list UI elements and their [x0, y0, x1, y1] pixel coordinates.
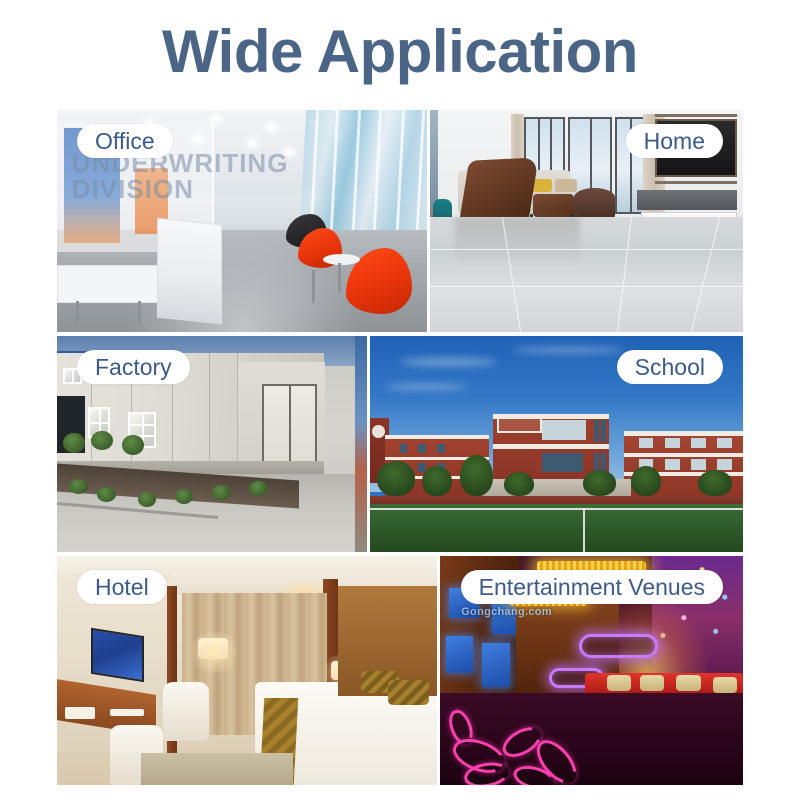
hotel-armchair — [163, 682, 209, 742]
factory-shrub — [138, 492, 157, 507]
hotel-desk-item — [110, 709, 144, 716]
gallery-label-office[interactable]: Office — [77, 124, 173, 158]
hotel-carpet — [141, 753, 293, 785]
office-reception-counter — [157, 218, 222, 324]
ktv-cushion — [607, 675, 631, 691]
ktv-cushion — [713, 677, 737, 693]
home-tv-ledge — [637, 190, 737, 210]
gallery-label-factory[interactable]: Factory — [77, 350, 190, 384]
ktv-cushion — [676, 675, 700, 691]
ktv-carpet — [440, 693, 743, 785]
page-title: Wide Application — [0, 14, 800, 90]
ktv-cushion — [640, 675, 664, 691]
gallery-label-home[interactable]: Home — [626, 124, 723, 158]
school-tree — [631, 466, 661, 496]
school-sports-field — [370, 504, 743, 552]
application-gallery-grid: UNDERWRITING DIVISION Office — [57, 110, 743, 785]
gallery-cell-school[interactable]: School — [370, 336, 743, 552]
gallery-label-entertainment[interactable]: Entertainment Venues — [461, 570, 723, 604]
home-coffee-table — [574, 188, 615, 219]
hotel-desk-item — [65, 707, 95, 718]
school-tree — [504, 472, 534, 496]
hotel-pillow — [388, 680, 430, 705]
gallery-cell-home[interactable]: Home — [430, 110, 743, 332]
gallery-label-school[interactable]: School — [617, 350, 723, 384]
factory-shrub — [122, 435, 144, 454]
ceiling-light-icon — [268, 126, 275, 130]
gallery-cell-hotel[interactable]: Hotel — [57, 556, 437, 785]
office-signage-line-2: DIVISION — [72, 174, 194, 205]
ktv-blue-panel — [482, 643, 509, 687]
ceiling-light-icon — [212, 117, 219, 121]
school-tree — [377, 461, 414, 496]
home-tile-floor — [430, 217, 743, 332]
school-rooftop-pergola — [497, 416, 542, 433]
ktv-blue-panel — [446, 636, 473, 673]
factory-right-edge-strip — [355, 336, 367, 552]
factory-shrub — [69, 479, 88, 494]
factory-shrub — [63, 433, 85, 452]
gallery-label-hotel[interactable]: Hotel — [77, 570, 167, 604]
hotel-tv — [91, 627, 144, 681]
school-tree — [698, 470, 732, 496]
factory-shrub — [249, 481, 268, 496]
wide-application-page: Wide Application — [0, 0, 800, 800]
home-ottoman — [533, 194, 574, 216]
lamp-glow — [186, 632, 243, 673]
school-tree — [460, 455, 494, 496]
factory-shrub — [212, 485, 231, 500]
floor-reflection — [455, 217, 580, 265]
school-tree — [583, 470, 617, 496]
gallery-cell-office[interactable]: UNDERWRITING DIVISION Office — [57, 110, 427, 332]
gallery-cell-entertainment[interactable]: Gongchang.com Entertainment Venues — [440, 556, 743, 785]
clock-icon — [372, 425, 385, 438]
ktv-watermark: Gongchang.com — [461, 606, 552, 618]
office-desk — [57, 265, 163, 303]
gallery-cell-factory[interactable]: Factory — [57, 336, 367, 552]
ktv-neon-light — [579, 634, 658, 658]
school-tree — [422, 466, 452, 496]
